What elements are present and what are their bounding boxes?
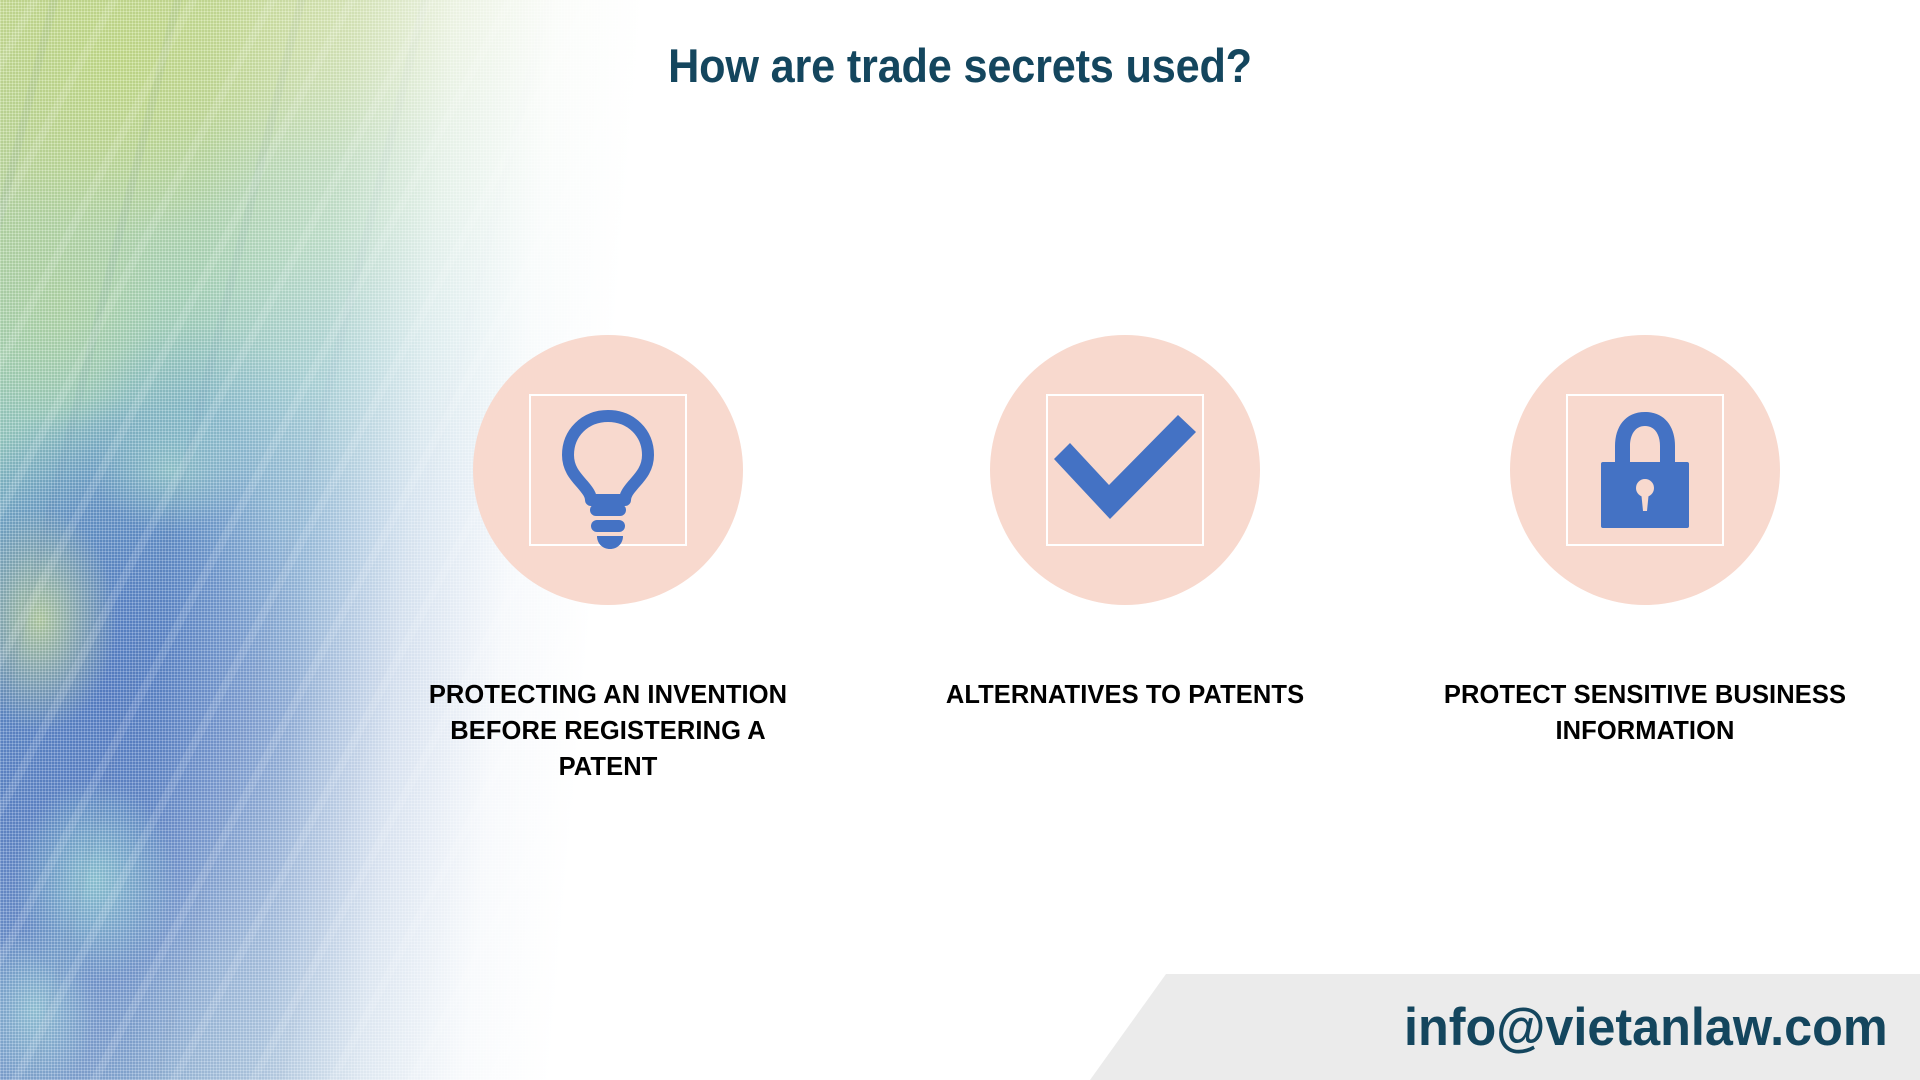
slide-canvas: How are trade secrets used? PROTECTING A… xyxy=(0,0,1920,1080)
lightbulb-icon xyxy=(554,410,662,530)
icon-frame-1 xyxy=(529,394,687,546)
icon-circle-3 xyxy=(1510,335,1780,605)
slide-title: How are trade secrets used? xyxy=(77,38,1843,93)
icon-circle-1 xyxy=(473,335,743,605)
feature-column-3: PROTECT SENSITIVE BUSINESS INFORMATION xyxy=(1435,335,1855,749)
lock-icon xyxy=(1592,408,1698,532)
footer-email-text: info@vietanlaw.com xyxy=(1132,974,1920,1080)
icon-circle-2 xyxy=(990,335,1260,605)
icon-frame-2 xyxy=(1046,394,1204,546)
feature-column-1: PROTECTING AN INVENTION BEFORE REGISTERI… xyxy=(398,335,818,786)
feature-column-2: ALTERNATIVES TO PATENTS xyxy=(915,335,1335,713)
feature-caption-2: ALTERNATIVES TO PATENTS xyxy=(915,677,1335,713)
feature-caption-1: PROTECTING AN INVENTION BEFORE REGISTERI… xyxy=(398,677,818,786)
checkmark-icon xyxy=(1050,415,1200,525)
icon-frame-3 xyxy=(1566,394,1724,546)
feature-caption-3: PROTECT SENSITIVE BUSINESS INFORMATION xyxy=(1435,677,1855,749)
